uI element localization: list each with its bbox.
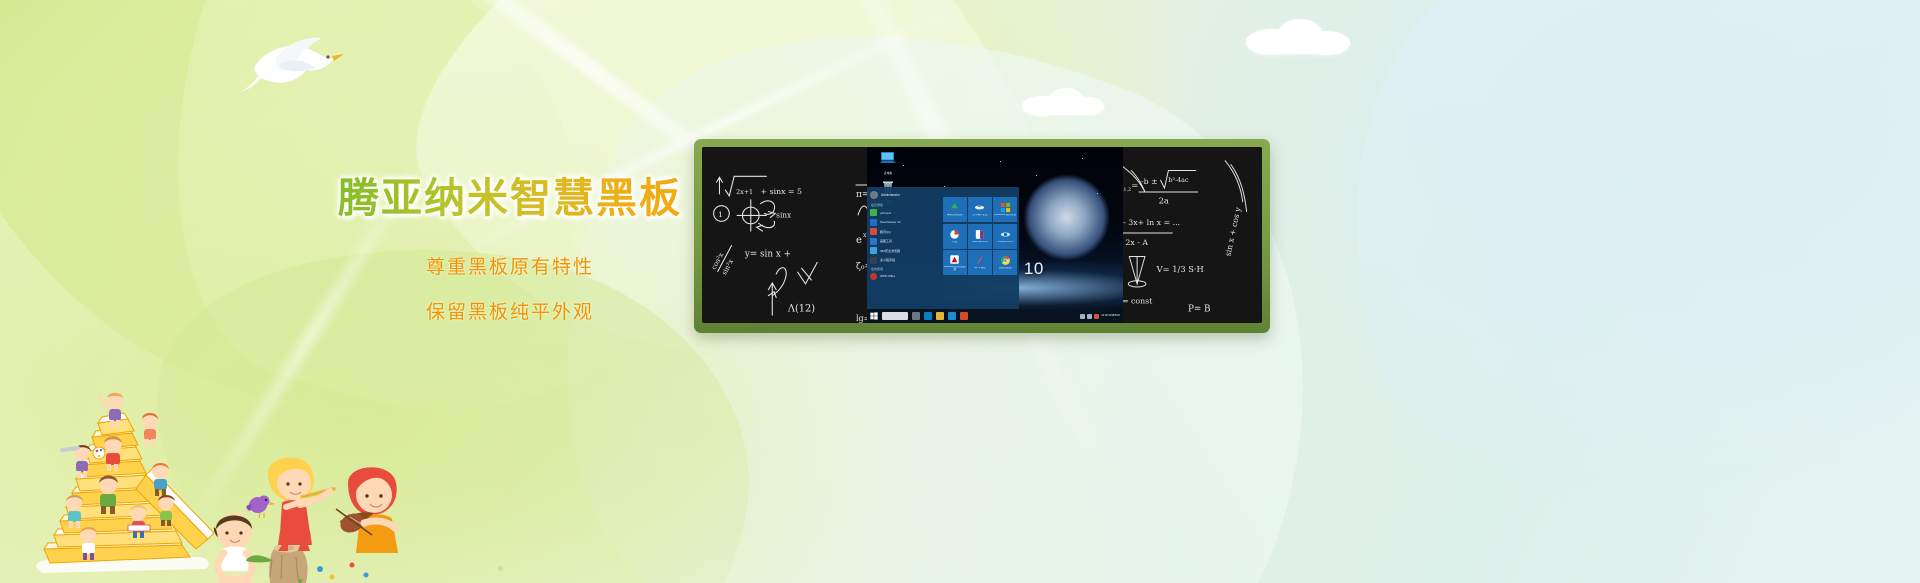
kid-violin-boy [336,467,398,553]
windows-screen: 此电脑 回收站 Windows 10 [867,147,1123,323]
tree-icon [949,202,960,213]
acrobat-icon [949,254,960,265]
start-menu-username: Administrator [881,193,900,197]
start-menu-item-office-tools[interactable]: 画图工具 [870,238,938,245]
promo-banner: 腾亚纳米智慧黑板 尊重黑板原有特性 保留黑板纯平外观 2x+1 + sinx =… [0,0,1920,583]
tile-label: 小白 [952,241,957,244]
avatar [870,191,878,199]
tile-label: 万宇输入记录 [972,214,988,217]
file-explorer-icon[interactable] [936,312,944,320]
kid-upper-right [142,413,158,446]
presentation-icon [949,229,960,240]
mail-icon[interactable] [960,312,968,320]
subtitle-line-2: 保留黑板纯平外观 [300,297,720,324]
start-menu-item-calculator[interactable]: 多小程序组 [870,257,938,264]
teamviewer-icon [870,219,877,226]
onenote-icon [974,229,985,240]
qq-icon [870,228,877,235]
chalk-formulas-right: x 1,2 = -b ± b²-4ac 2a x²- 3x+ ln x = ..… [1110,147,1262,323]
network-icon[interactable] [1080,314,1085,319]
kid-flute-girl [268,458,334,551]
svg-text:sin²x: sin²x [720,258,735,277]
tile-notes[interactable]: 万宇输入记录 [968,197,992,222]
calculator-icon [870,257,877,264]
headline-block: 腾亚纳米智慧黑板 尊重黑板原有特性 保留黑板纯平外观 [300,175,720,324]
chalk-formulas-left: 2x+1 + sinx = 5 1 sinx cos²x sin²x [702,147,867,323]
tile-label: 谷歌浏览器 [999,267,1012,270]
desktop-icon-this-pc[interactable]: 此电脑 [871,151,905,175]
svg-text:Λ(12): Λ(12) [787,303,815,314]
svg-text:x²- 3x+ ln x = ...: x²- 3x+ ln x = ... [1116,218,1180,227]
decorative-dot [498,566,503,571]
start-menu-item-utorrent[interactable]: µTorrent [870,209,938,216]
subtitle-line-1: 尊重黑板原有特性 [300,252,720,279]
tile-label: Outlook 2013 [997,241,1012,244]
tile-label: 本机游戏管理 [947,214,963,217]
tile-weather[interactable]: 本机游戏管理 [943,197,967,222]
svg-text:+ sinx = 5: + sinx = 5 [761,187,802,196]
system-tray: 14:28 2018/5/22 [1080,314,1120,319]
svg-text:P= B: P= B [1188,304,1211,314]
taskbar-clock[interactable]: 14:28 2018/5/22 [1101,315,1120,318]
tile-windows-store[interactable]: Autodesk 应用管理 [993,197,1017,222]
outlook-icon [1000,229,1011,240]
confetti-dot [364,573,369,578]
confetti-dot [298,579,302,583]
svg-text:-b ±: -b ± [1141,177,1158,186]
tile-onenote[interactable]: OneNote 2013 [968,224,992,249]
blackboard-surface: 2x+1 + sinx = 5 1 sinx cos²x sin²x [702,147,1262,323]
svg-text:1: 1 [718,210,723,219]
smart-blackboard-device: 2x+1 + sinx = 5 1 sinx cos²x sin²x [694,139,1270,333]
start-menu-item-qq[interactable]: 腾讯QQ [870,228,938,235]
start-menu-item-label: 腾讯QQ [880,230,891,234]
volume-icon[interactable] [1087,314,1092,319]
start-button[interactable] [870,312,878,320]
dove-icon [236,28,346,98]
start-menu-section-common: 最常使用 [871,267,938,271]
start-menu-item-label: 360安全浏览器 [880,249,900,253]
kid-telescope [60,445,91,478]
background-leaf-shape [1271,0,1920,564]
confetti-dot [330,575,335,580]
bird-icon [246,496,275,519]
tile-ppt[interactable]: 小白 [943,224,967,249]
start-menu-item-label: 多小程序组 [880,258,895,262]
start-menu-item-wps[interactable]: WPS Office [870,273,938,280]
tile-label: Autodesk 应用管理 [994,214,1016,217]
svg-text:2a: 2a [1159,196,1169,206]
pdf-icon [974,255,985,266]
kid-sitting-boy [214,513,252,583]
start-menu-item-label: WPS Office [880,274,895,278]
svg-text:2x - A: 2x - A [1125,238,1148,247]
svg-text:sin x + cos y: sin x + cos y [1223,206,1242,257]
chrome-icon [1000,255,1011,266]
edge-icon[interactable] [924,312,932,320]
books-illustration [0,353,420,583]
confetti-dot [317,566,323,572]
svg-text:cos²x: cos²x [710,251,726,271]
confetti-dot [350,563,355,568]
svg-text:y= sin x +: y= sin x + [744,250,791,260]
svg-text:sinx: sinx [776,210,792,219]
start-menu-user[interactable]: Administrator [870,191,938,199]
desktop-icon-label: 此电脑 [871,172,905,175]
tile-chrome[interactable]: 谷歌浏览器 [993,250,1017,275]
start-menu-section-recent: 最近添加 [871,203,938,207]
start-menu: Administrator 最近添加 µTorrent TeamViewer 1… [867,187,1019,309]
page-title: 腾亚纳米智慧黑板 [300,175,720,222]
tree-stump [246,544,308,583]
utorrent-icon [870,209,877,216]
svg-text:e: e [856,235,862,246]
browser-icon [870,247,877,254]
svg-text:1,2: 1,2 [1123,187,1131,193]
start-menu-item-label: µTorrent [880,211,891,215]
tile-acrobat[interactable]: Autodesk 应用管理器 [943,250,967,275]
start-menu-item-browser[interactable]: 360安全浏览器 [870,247,938,254]
ime-icon[interactable] [1094,314,1099,319]
paint-icon [870,238,877,245]
tile-outlook[interactable]: Outlook 2013 [993,224,1017,249]
taskbar: 14:28 2018/5/22 [867,309,1123,323]
tile-pdf-reader[interactable]: WPS 演示 [968,250,992,275]
store-icon[interactable] [948,312,956,320]
start-menu-item-label: 画图工具 [880,239,892,243]
svg-text:b²-4ac: b²-4ac [1168,176,1189,184]
start-menu-tiles: 本机游戏管理 万宇输入记录 [941,187,1019,309]
this-pc-icon [879,151,897,166]
start-menu-app-list: Administrator 最近添加 µTorrent TeamViewer 1… [867,187,941,309]
start-menu-item-teamviewer[interactable]: TeamViewer 12 [870,219,938,226]
notes-icon [974,202,985,213]
cloud-icon [1016,84,1108,118]
wps-icon [870,273,877,280]
svg-text:V= 1/3 S·H: V= 1/3 S·H [1156,264,1204,274]
windows-icon [1000,202,1011,213]
task-view-icon[interactable] [912,312,920,320]
svg-text:=: = [1131,180,1138,190]
svg-text:2x+1: 2x+1 [736,188,753,196]
taskbar-search-input[interactable] [882,312,908,320]
tile-label: WPS 演示 [974,267,986,270]
tile-label: OneNote 2013 [972,241,989,244]
cloud-icon [1238,14,1358,58]
start-menu-item-label: TeamViewer 12 [880,220,901,224]
tile-label: Autodesk 应用管理器 [943,266,967,272]
